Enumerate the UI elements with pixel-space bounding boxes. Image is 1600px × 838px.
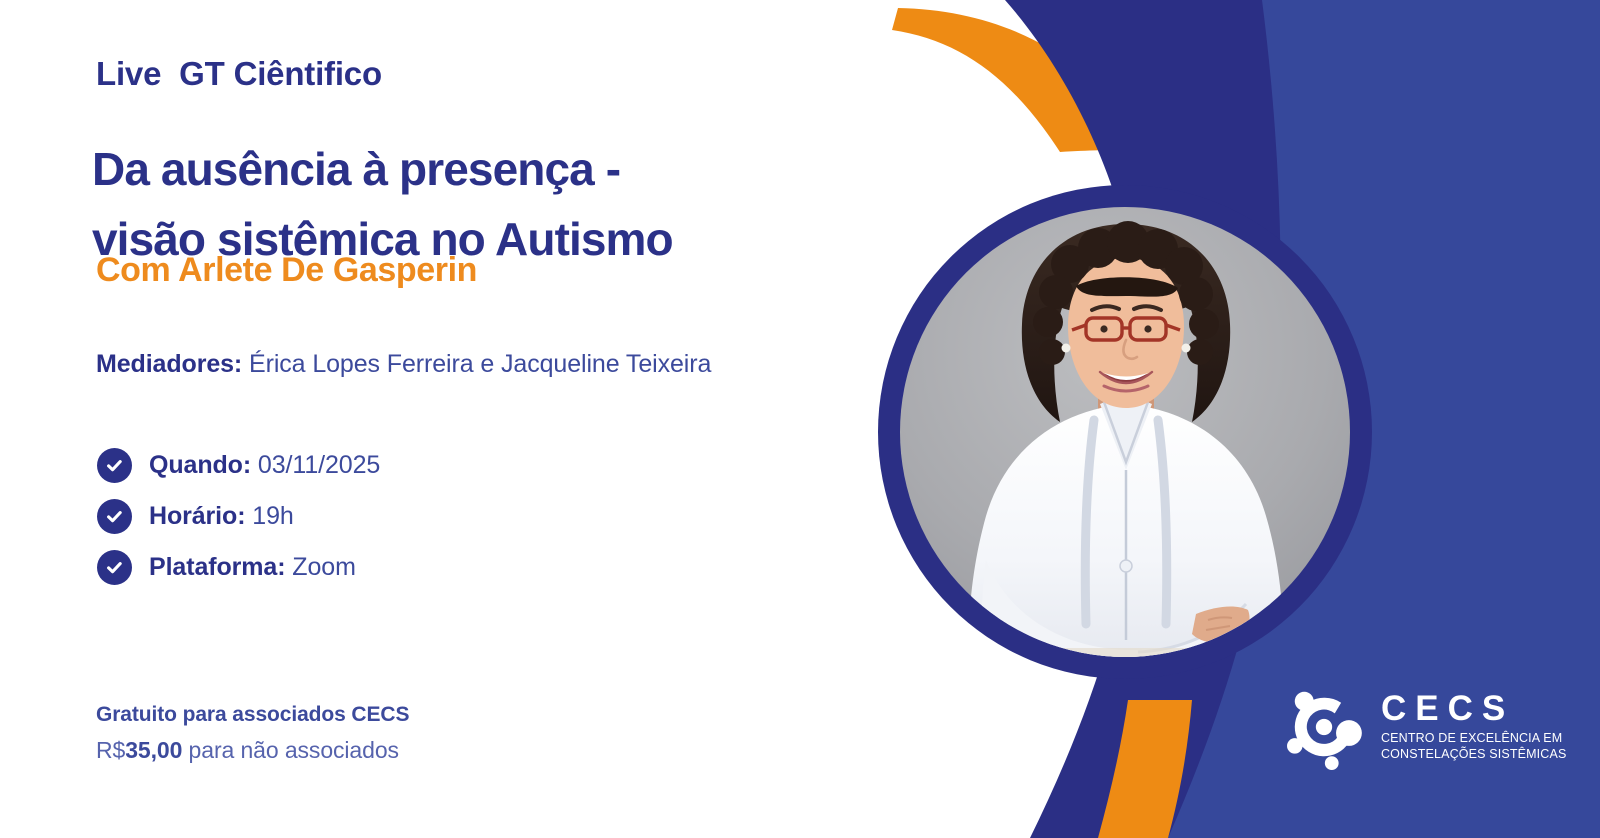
list-item: Horário: 19h [97,499,380,534]
cecs-logo: CECS CENTRO DE EXCELÊNCIA EM CONSTELAÇÕE… [1281,684,1566,770]
portrait-ring [878,185,1372,679]
constellation-circles-icon [1281,684,1367,770]
fact-value: Zoom [292,553,356,581]
price-amount: 35,00 [125,737,182,763]
event-details-list: Quando: 03/11/2025 Horário: 19h [97,448,380,585]
fact-text: Horário: 19h [149,502,294,531]
text-column: Live GT Ciêntifico Da ausência à presenç… [0,0,900,838]
check-circle-icon [97,499,132,534]
kicker-line: Live GT Ciêntifico [96,55,382,93]
orange-wedge-bottom [1098,700,1192,838]
logo-wordmark: CECS [1381,691,1566,726]
currency-prefix: R$ [96,737,125,763]
fact-text: Quando: 03/11/2025 [149,451,380,480]
presenter-name: Com Arlete De Gasperin [96,251,477,290]
orange-arc-top [892,8,1150,152]
logo-tagline: CENTRO DE EXCELÊNCIA EM CONSTELAÇÕES SIS… [1381,731,1566,762]
check-circle-icon [97,550,132,585]
fact-value: 19h [252,502,293,530]
check-circle-icon [97,448,132,483]
mediators-value: Érica Lopes Ferreira e Jacqueline Teixei… [249,350,711,378]
list-item: Quando: 03/11/2025 [97,448,380,483]
mediators-label: Mediadores: [96,350,242,378]
portrait-photo [900,207,1350,664]
event-flyer: Live GT Ciêntifico Da ausência à presenç… [0,0,1600,838]
fact-value: 03/11/2025 [258,451,380,479]
list-item: Plataforma: Zoom [97,550,380,585]
price-suffix: para não associados [182,737,399,763]
fact-label: Plataforma: [149,553,285,581]
navy-crescent-shape [1005,0,1281,838]
fact-label: Horário: [149,502,245,530]
logo-type: CECS CENTRO DE EXCELÊNCIA EM CONSTELAÇÕE… [1381,691,1566,762]
price-paid-line: R$35,00 para não associados [96,737,409,764]
price-free-line: Gratuito para associados CECS [96,703,409,727]
fact-text: Plataforma: Zoom [149,553,356,582]
pricing-block: Gratuito para associados CECS R$35,00 pa… [96,703,409,764]
mediators-line: Mediadores: Érica Lopes Ferreira e Jacqu… [96,350,711,379]
fact-label: Quando: [149,451,251,479]
